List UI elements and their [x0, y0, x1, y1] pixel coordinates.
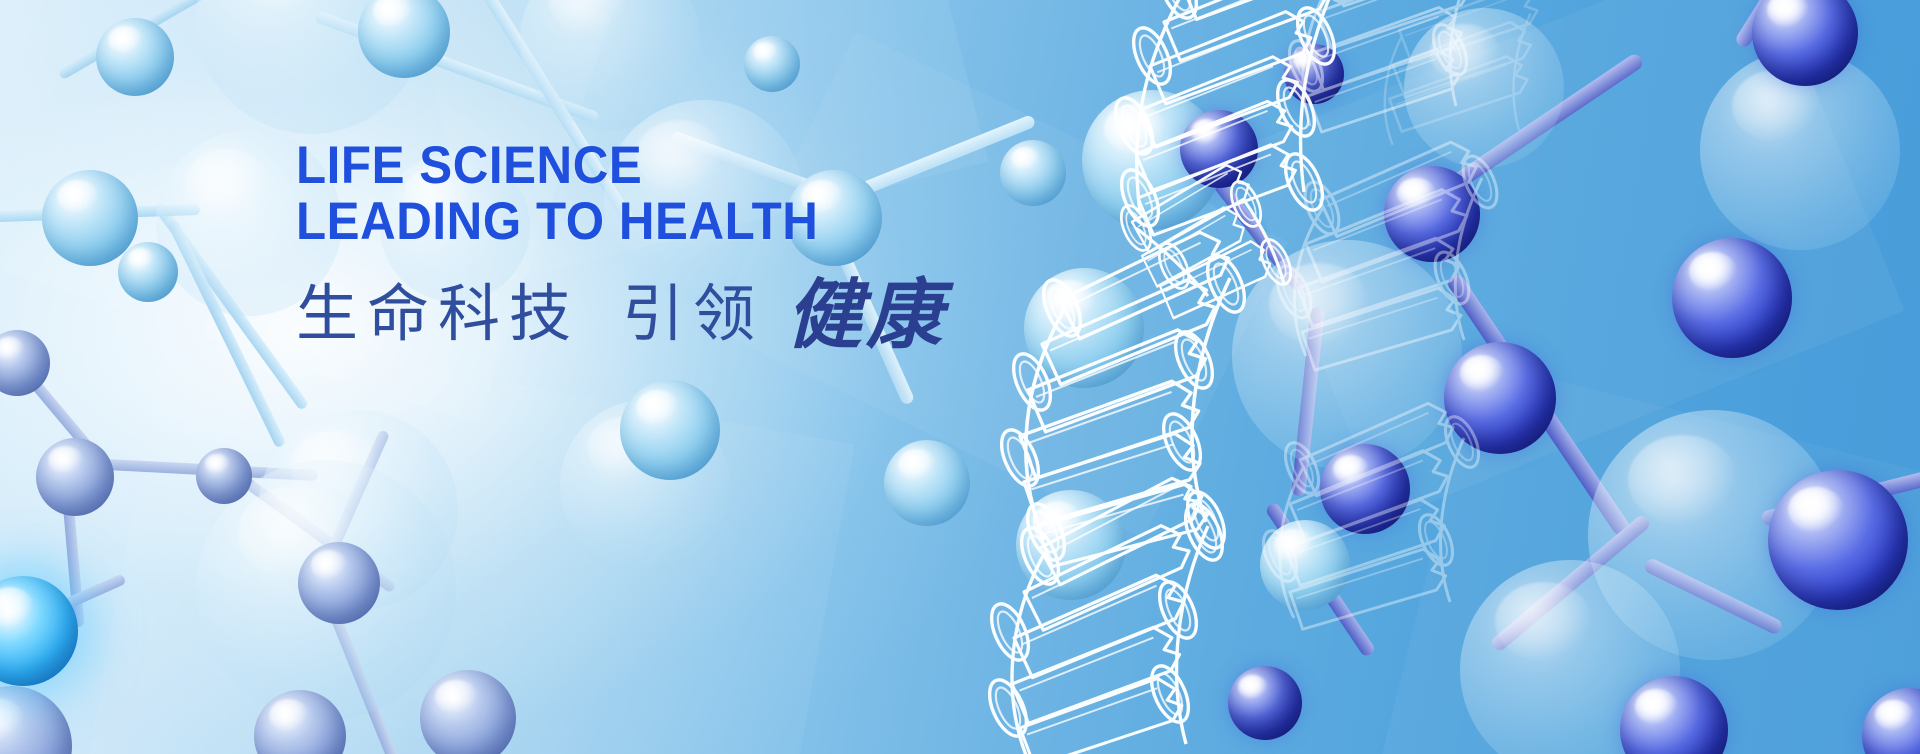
molecule-atom — [196, 448, 252, 504]
dna-double-helix-wireframe — [880, 0, 1660, 754]
life-science-banner: LIFE SCIENCE LEADING TO HEALTH 生命科技 引领 健… — [0, 0, 1920, 754]
molecule-atom — [620, 380, 720, 480]
molecule-atom — [118, 242, 178, 302]
molecule-atom — [1672, 238, 1792, 358]
molecule-atom — [42, 170, 138, 266]
headline-chinese-secondary: 引领 — [622, 281, 764, 347]
headline-english-line-2: LEADING TO HEALTH — [296, 194, 901, 250]
headline-chinese-primary: 生命科技 — [296, 281, 580, 347]
molecule-atom — [744, 36, 800, 92]
headline-block: LIFE SCIENCE LEADING TO HEALTH 生命科技 引领 健… — [296, 138, 946, 347]
molecule-atom — [1768, 470, 1908, 610]
headline-english-line-1: LIFE SCIENCE — [296, 138, 901, 194]
molecule-atom — [298, 542, 380, 624]
molecule-atom — [96, 18, 174, 96]
headline-chinese-brush: 健康 — [786, 282, 946, 348]
molecule-atom — [36, 438, 114, 516]
headline-chinese-block: 生命科技 引领 健康 — [296, 276, 946, 347]
